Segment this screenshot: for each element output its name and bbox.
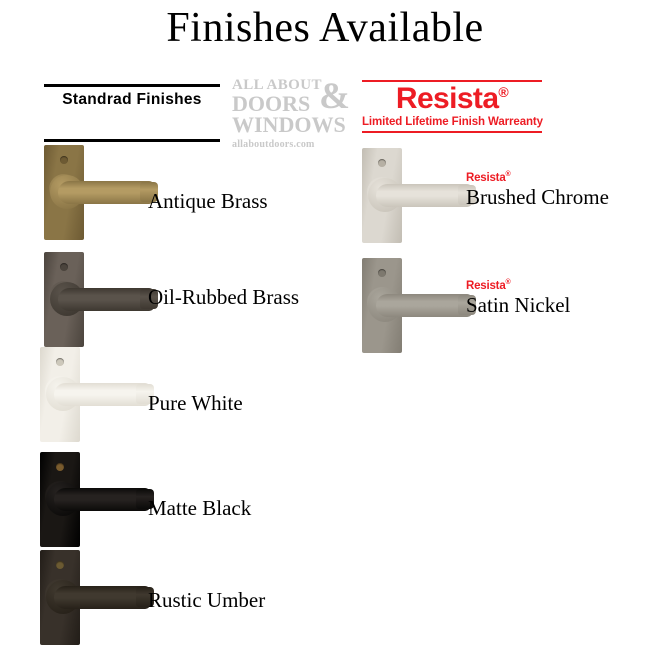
plate-screw <box>56 463 64 471</box>
finish-label-satin-nickel: Satin Nickel <box>466 293 570 318</box>
resista-tagline: Limited Lifetime Finish Warreanty <box>362 115 542 129</box>
finish-label-brushed-chrome: Brushed Chrome <box>466 185 609 210</box>
page-title: Finishes Available <box>0 4 650 52</box>
registered-trademark-icon: ® <box>506 279 511 286</box>
plate-screw <box>60 263 68 271</box>
resista-brand-text: Resista <box>396 82 499 115</box>
resista-tag-satin-nickel: Resista® <box>466 280 510 292</box>
resista-brand-name: Resista® <box>362 83 542 115</box>
resista-tag-brushed-chrome: Resista® <box>466 172 510 184</box>
finish-label-antique-brass: Antique Brass <box>148 189 268 214</box>
standard-finishes-header: Standrad Finishes <box>44 84 220 142</box>
resista-tag-text: Resista <box>466 172 506 184</box>
finish-label-oil-rubbed-brass: Oil-Rubbed Brass <box>148 285 299 310</box>
watermark-line-3: WINDOWS <box>232 114 346 135</box>
plate-screw <box>378 159 386 167</box>
plate-screw <box>56 358 64 366</box>
resista-tag-text: Resista <box>466 280 506 292</box>
resista-brand-header: Resista® Limited Lifetime Finish Warrean… <box>362 80 542 133</box>
standard-finishes-heading: Standrad Finishes <box>44 87 220 112</box>
finish-label-pure-white: Pure White <box>148 391 243 416</box>
plate-screw <box>56 561 64 569</box>
finish-label-rustic-umber: Rustic Umber <box>148 588 265 613</box>
plate-screw <box>60 156 68 164</box>
watermark-url: allaboutdoors.com <box>232 137 346 153</box>
finish-label-matte-black: Matte Black <box>148 496 251 521</box>
watermark-ampersand: & <box>319 80 350 114</box>
allaboutdoors-watermark-logo: & ALL ABOUT DOORS WINDOWS allaboutdoors.… <box>232 78 346 153</box>
registered-trademark-icon: ® <box>498 84 508 100</box>
resista-rule-bottom <box>362 131 542 133</box>
registered-trademark-icon: ® <box>506 171 511 178</box>
plate-screw <box>378 269 386 277</box>
header-rule-bottom <box>44 139 220 142</box>
